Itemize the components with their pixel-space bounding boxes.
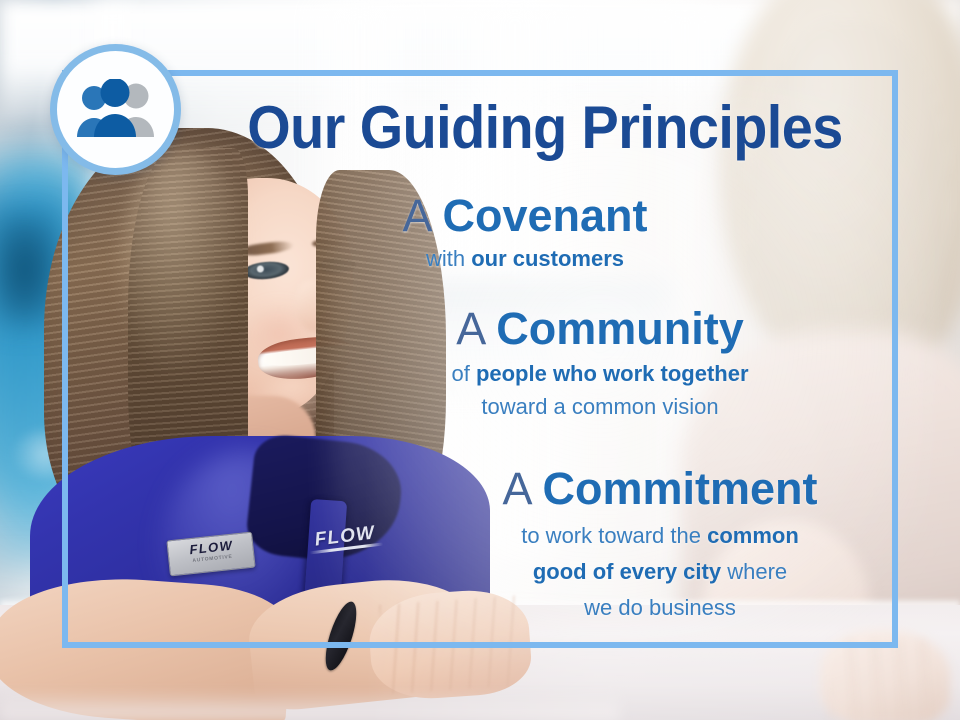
principle-community-subtext-line1: of people who work together bbox=[380, 358, 820, 389]
principle-commitment-subtext-line1: to work toward the common bbox=[440, 520, 880, 552]
principle-community: A Community of people who work together … bbox=[380, 302, 820, 422]
principle-covenant-article: A bbox=[402, 190, 442, 241]
principle-commitment-sub-bold-1: common bbox=[707, 523, 799, 548]
principle-covenant-subtext: with our customers bbox=[330, 244, 720, 274]
people-group-icon bbox=[72, 79, 160, 141]
principle-community-keyword: Community bbox=[496, 303, 744, 354]
principle-commitment-subtext-line2: good of every city where bbox=[440, 556, 880, 588]
principle-covenant: A Covenant with our customers bbox=[330, 190, 720, 274]
people-group-badge bbox=[50, 44, 181, 175]
principle-covenant-heading: A Covenant bbox=[330, 190, 720, 242]
principle-commitment-keyword: Commitment bbox=[543, 463, 818, 514]
principle-covenant-sub-bold: our customers bbox=[471, 246, 624, 271]
principle-covenant-keyword: Covenant bbox=[443, 190, 648, 241]
principle-commitment-heading: A Commitment bbox=[440, 462, 880, 516]
principle-community-subtext-line2: toward a common vision bbox=[380, 391, 820, 422]
principle-commitment: A Commitment to work toward the common g… bbox=[440, 462, 880, 624]
page-title: Our Guiding Principles bbox=[224, 94, 866, 162]
principle-community-sub-bold: people who work together bbox=[476, 361, 749, 386]
principle-community-heading: A Community bbox=[380, 302, 820, 356]
principle-commitment-sub-bold-2: good of every city bbox=[533, 559, 721, 584]
promo-graphic: FLOW FLOW AUTOMOTIVE bbox=[0, 0, 960, 720]
principle-commitment-sub-tail: where bbox=[721, 559, 787, 584]
principle-community-sub-lead: of bbox=[451, 361, 475, 386]
principle-commitment-sub-lead: to work toward the bbox=[521, 523, 707, 548]
principle-commitment-article: A bbox=[502, 463, 542, 514]
principle-covenant-sub-lead: with bbox=[426, 246, 471, 271]
principle-commitment-subtext-line3: we do business bbox=[440, 592, 880, 624]
principle-community-article: A bbox=[456, 303, 496, 354]
